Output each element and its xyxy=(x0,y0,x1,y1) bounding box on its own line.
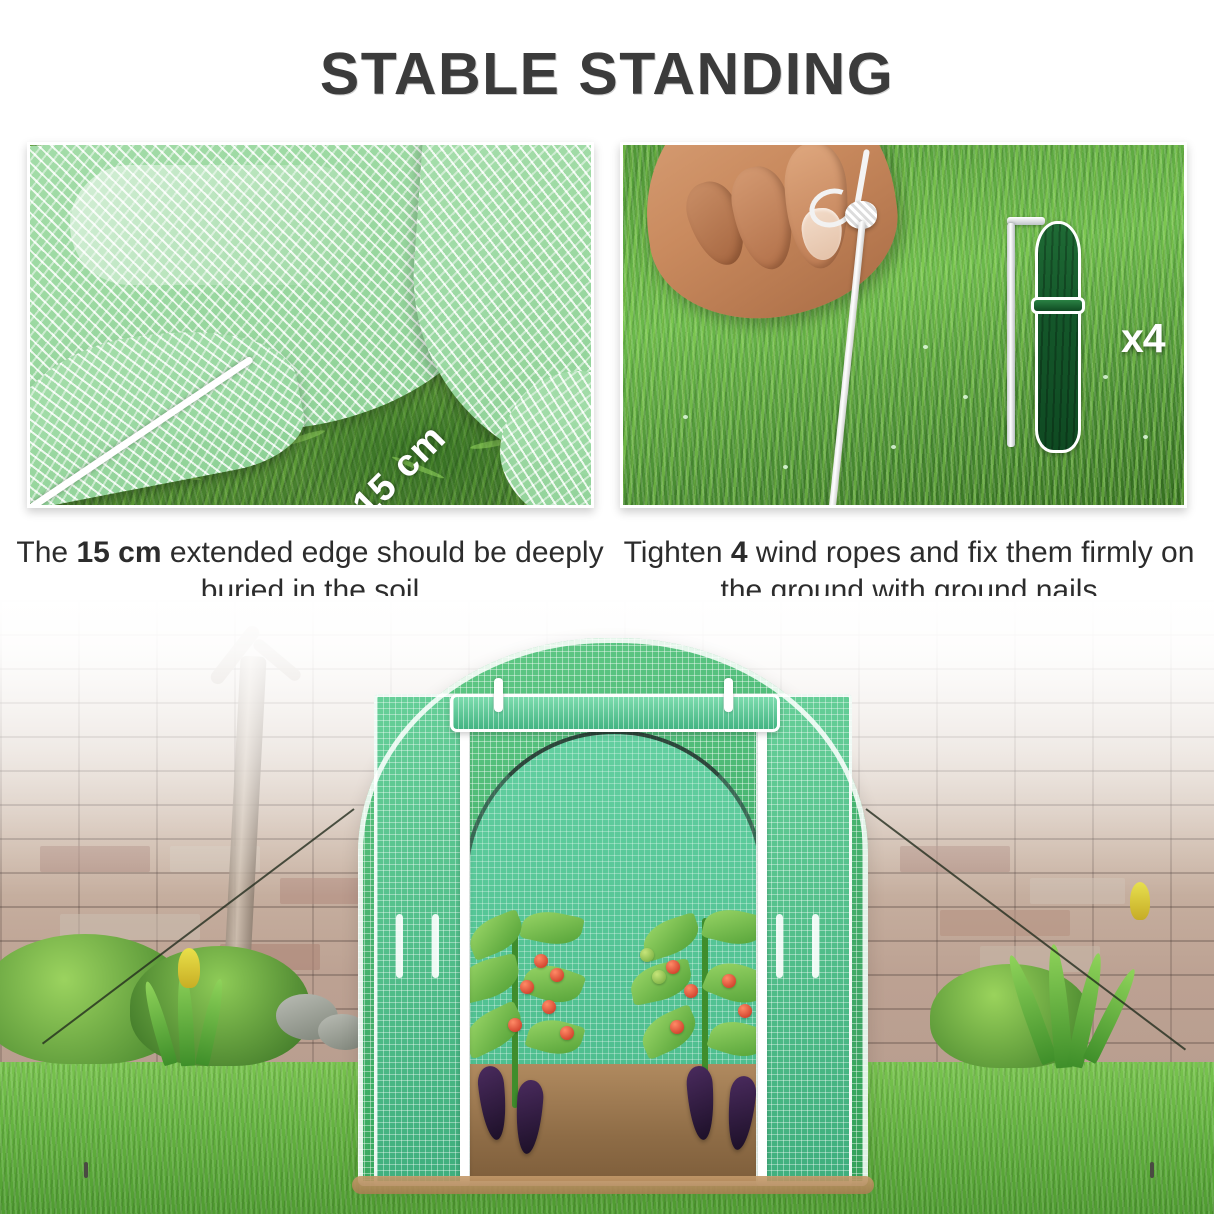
caption-right-part1: Tighten xyxy=(624,536,731,569)
quantity-badge: x4 xyxy=(1121,315,1165,362)
brick xyxy=(900,846,1010,872)
rope-bundle-tie xyxy=(1031,297,1085,314)
caption-left-part1: The xyxy=(16,536,76,569)
eggplant-fruit xyxy=(685,1065,716,1141)
tomato-fruit xyxy=(542,1000,556,1014)
door-flap-right xyxy=(756,694,852,1186)
wind-rope-bundle xyxy=(1035,221,1081,453)
frame-post-right xyxy=(758,698,767,1186)
flap-handle[interactable] xyxy=(432,914,439,978)
clover-fleck xyxy=(891,445,896,449)
leaf xyxy=(524,1013,585,1061)
caption-right-bold: 4 xyxy=(731,536,748,569)
tomato-plant xyxy=(464,908,600,1138)
flap-handle[interactable] xyxy=(396,914,403,978)
buried-edge-photo: 15 cm xyxy=(27,142,594,508)
tomato-plant xyxy=(626,908,764,1138)
tomato-fruit xyxy=(550,968,564,982)
hero-greenhouse-photo xyxy=(0,596,1214,1214)
flap-handle[interactable] xyxy=(776,914,783,978)
leaf xyxy=(635,1004,703,1060)
tomato-fruit xyxy=(722,974,736,988)
frame-post-left xyxy=(460,698,469,1186)
caption-left-bold: 15 cm xyxy=(76,536,161,569)
infographic-page: STABLE STANDING 15 cm xyxy=(0,0,1214,1214)
buried-edge-soil-mound xyxy=(352,1176,874,1194)
tomato-fruit xyxy=(684,984,698,998)
greenhouse xyxy=(358,638,868,1186)
clover-fleck xyxy=(1143,435,1148,439)
eggplant-fruit xyxy=(476,1065,510,1141)
roll-tie-strap[interactable] xyxy=(724,678,733,712)
tomato-fruit xyxy=(670,1020,684,1034)
ground-nail xyxy=(1150,1162,1154,1178)
door-flap-left xyxy=(374,694,470,1186)
brick xyxy=(1030,878,1125,904)
clover-fleck xyxy=(923,345,928,349)
clover-fleck xyxy=(783,465,788,469)
clover-fleck xyxy=(683,415,688,419)
clover-fleck xyxy=(963,395,968,399)
clover-fleck xyxy=(1103,375,1108,379)
greenhouse-interior xyxy=(464,730,764,1186)
leaf xyxy=(701,903,764,951)
tomato-fruit-green xyxy=(640,948,654,962)
tomato-fruit xyxy=(534,954,548,968)
page-title: STABLE STANDING xyxy=(0,44,1214,106)
yellow-flower xyxy=(1130,882,1150,920)
tomato-fruit xyxy=(520,980,534,994)
ground-nail xyxy=(84,1162,88,1178)
flap-handle[interactable] xyxy=(812,914,819,978)
leaf xyxy=(519,906,584,950)
roll-tie-strap[interactable] xyxy=(494,678,503,712)
tomato-fruit-green xyxy=(652,970,666,984)
tomato-fruit xyxy=(738,1004,752,1018)
tomato-fruit xyxy=(560,1026,574,1040)
yellow-flower xyxy=(178,948,200,988)
wind-rope-photo: x4 xyxy=(620,142,1187,508)
leaf xyxy=(464,909,528,962)
tomato-fruit xyxy=(666,960,680,974)
tomato-fruit xyxy=(508,1018,522,1032)
ground-nail-shaft xyxy=(1007,223,1015,447)
brick xyxy=(40,846,150,872)
